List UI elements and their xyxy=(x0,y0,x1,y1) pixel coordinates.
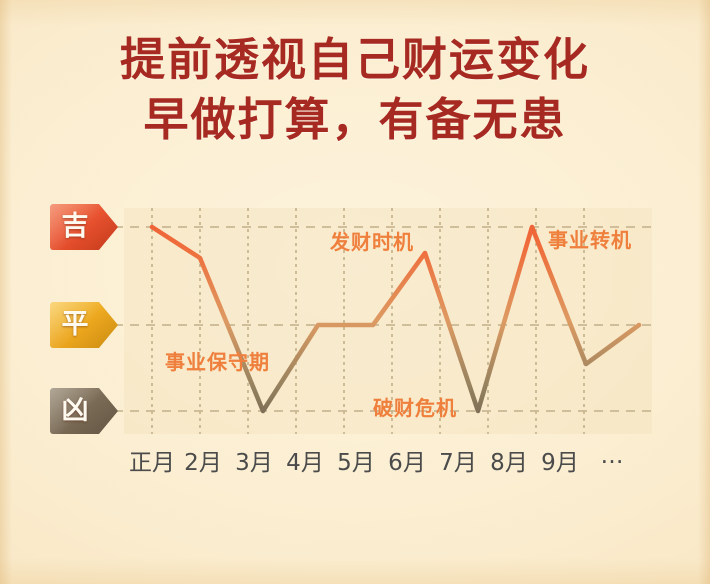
x-axis-tick: 6月 xyxy=(388,443,426,477)
x-axis-tick: 3月 xyxy=(235,443,273,477)
annotation-money-loss-crisis: 破财危机 xyxy=(373,392,457,421)
level-badge-xiong: 凶 xyxy=(50,388,118,434)
level-badge-ji-label: 吉 xyxy=(50,204,100,250)
x-axis-tick: 9月 xyxy=(541,443,579,477)
x-axis-tick: … xyxy=(601,443,624,469)
level-badge-ping: 平 xyxy=(50,302,118,348)
x-axis-tick: 5月 xyxy=(337,443,375,477)
x-axis-tick: 4月 xyxy=(286,443,324,477)
annotation-fortune-timing: 发财时机 xyxy=(330,226,414,255)
title-line-2: 早做打算，有备无患 xyxy=(0,90,710,150)
x-axis-labels: 正月2月3月4月5月6月7月8月9月… xyxy=(0,443,710,477)
page-title: 提前透视自己财运变化 早做打算，有备无患 xyxy=(0,30,710,150)
fortune-chart-card: 提前透视自己财运变化 早做打算，有备无患 吉 平 凶 事业保守期 发财时机 破财… xyxy=(0,0,710,584)
x-axis-tick: 8月 xyxy=(490,443,528,477)
annotation-career-turning-point: 事业转机 xyxy=(548,224,632,253)
x-axis-tick: 2月 xyxy=(184,443,222,477)
level-badge-ji: 吉 xyxy=(50,204,118,250)
level-badge-ping-label: 平 xyxy=(50,302,100,348)
level-badge-xiong-label: 凶 xyxy=(50,388,100,434)
x-axis-tick: 7月 xyxy=(439,443,477,477)
title-line-1: 提前透视自己财运变化 xyxy=(0,30,710,90)
annotation-career-conservative: 事业保守期 xyxy=(165,346,270,375)
x-axis-tick: 正月 xyxy=(129,443,175,477)
